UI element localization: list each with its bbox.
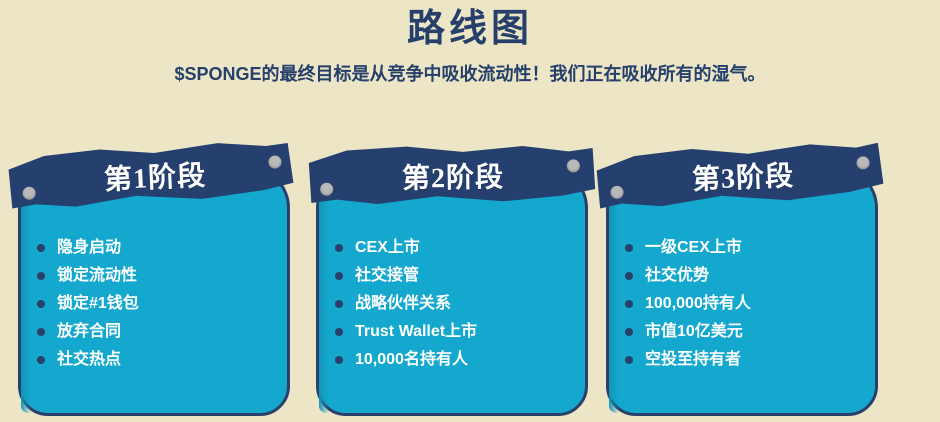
phase-3-banner: 第3阶段 <box>592 139 894 212</box>
list-item: 战略伙伴关系 <box>335 291 583 317</box>
list-item: 社交热点 <box>37 347 285 373</box>
list-item: 放弃合同 <box>37 319 285 345</box>
roadmap-page: 路线图 $SPONGE的最终目标是从竞争中吸收流动性！我们正在吸收所有的湿气。 … <box>0 0 940 422</box>
list-item-label: 社交热点 <box>57 350 121 370</box>
list-item-label: 一级CEX上市 <box>645 238 742 258</box>
roadmap-card-phase-3: 一级CEX上市 社交优势 100,000持有人 市值10亿美元 空投至持有者 <box>606 166 878 416</box>
bullet-icon <box>335 244 343 252</box>
phase-3-item-list: 一级CEX上市 社交优势 100,000持有人 市值10亿美元 空投至持有者 <box>625 235 873 375</box>
phase-3-banner-label: 第3阶段 <box>592 139 894 212</box>
phase-1-banner-label: 第1阶段 <box>4 138 307 214</box>
list-item-label: 社交优势 <box>645 266 709 286</box>
list-item: CEX上市 <box>335 235 583 261</box>
list-item-label: 隐身启动 <box>57 238 121 258</box>
list-item-label: Trust Wallet上市 <box>355 322 477 342</box>
list-item: 一级CEX上市 <box>625 235 873 261</box>
bullet-icon <box>335 300 343 308</box>
list-item-label: 100,000持有人 <box>645 294 751 314</box>
bullet-icon <box>37 244 45 252</box>
list-item-label: 锁定#1钱包 <box>57 294 139 314</box>
list-item-label: 空投至持有者 <box>645 350 741 370</box>
bullet-icon <box>625 272 633 280</box>
list-item: 锁定流动性 <box>37 263 285 289</box>
list-item: 锁定#1钱包 <box>37 291 285 317</box>
bullet-icon <box>625 244 633 252</box>
roadmap-card-phase-2: CEX上市 社交接管 战略伙伴关系 Trust Wallet上市 10,000名… <box>316 166 588 416</box>
phase-1-banner: 第1阶段 <box>4 138 307 214</box>
bullet-icon <box>625 328 633 336</box>
list-item-label: CEX上市 <box>355 238 420 258</box>
page-subtitle: $SPONGE的最终目标是从竞争中吸收流动性！我们正在吸收所有的湿气。 <box>0 62 940 86</box>
list-item: Trust Wallet上市 <box>335 319 583 345</box>
list-item-label: 市值10亿美元 <box>645 322 743 342</box>
bullet-icon <box>335 356 343 364</box>
list-item-label: 锁定流动性 <box>57 266 137 286</box>
bullet-icon <box>625 300 633 308</box>
bullet-icon <box>37 272 45 280</box>
list-item-label: 放弃合同 <box>57 322 121 342</box>
list-item: 10,000名持有人 <box>335 347 583 373</box>
list-item: 空投至持有者 <box>625 347 873 373</box>
bullet-icon <box>37 300 45 308</box>
list-item: 社交接管 <box>335 263 583 289</box>
bullet-icon <box>37 328 45 336</box>
list-item: 市值10亿美元 <box>625 319 873 345</box>
roadmap-card-phase-1: 隐身启动 锁定流动性 锁定#1钱包 放弃合同 社交热点 <box>18 166 290 416</box>
list-item: 隐身启动 <box>37 235 285 261</box>
phase-1-item-list: 隐身启动 锁定流动性 锁定#1钱包 放弃合同 社交热点 <box>37 235 285 375</box>
phase-2-banner: 第2阶段 <box>303 143 604 209</box>
bullet-icon <box>625 356 633 364</box>
page-header: 路线图 $SPONGE的最终目标是从竞争中吸收流动性！我们正在吸收所有的湿气。 <box>0 0 940 86</box>
phase-2-item-list: CEX上市 社交接管 战略伙伴关系 Trust Wallet上市 10,000名… <box>335 235 583 375</box>
phase-2-banner-label: 第2阶段 <box>303 143 604 209</box>
list-item-label: 10,000名持有人 <box>355 350 468 370</box>
list-item-label: 社交接管 <box>355 266 419 286</box>
bullet-icon <box>335 328 343 336</box>
page-title: 路线图 <box>0 6 940 52</box>
roadmap-card-list: 隐身启动 锁定流动性 锁定#1钱包 放弃合同 社交热点 <box>0 138 940 422</box>
list-item-label: 战略伙伴关系 <box>355 294 451 314</box>
list-item: 100,000持有人 <box>625 291 873 317</box>
bullet-icon <box>335 272 343 280</box>
bullet-icon <box>37 356 45 364</box>
list-item: 社交优势 <box>625 263 873 289</box>
